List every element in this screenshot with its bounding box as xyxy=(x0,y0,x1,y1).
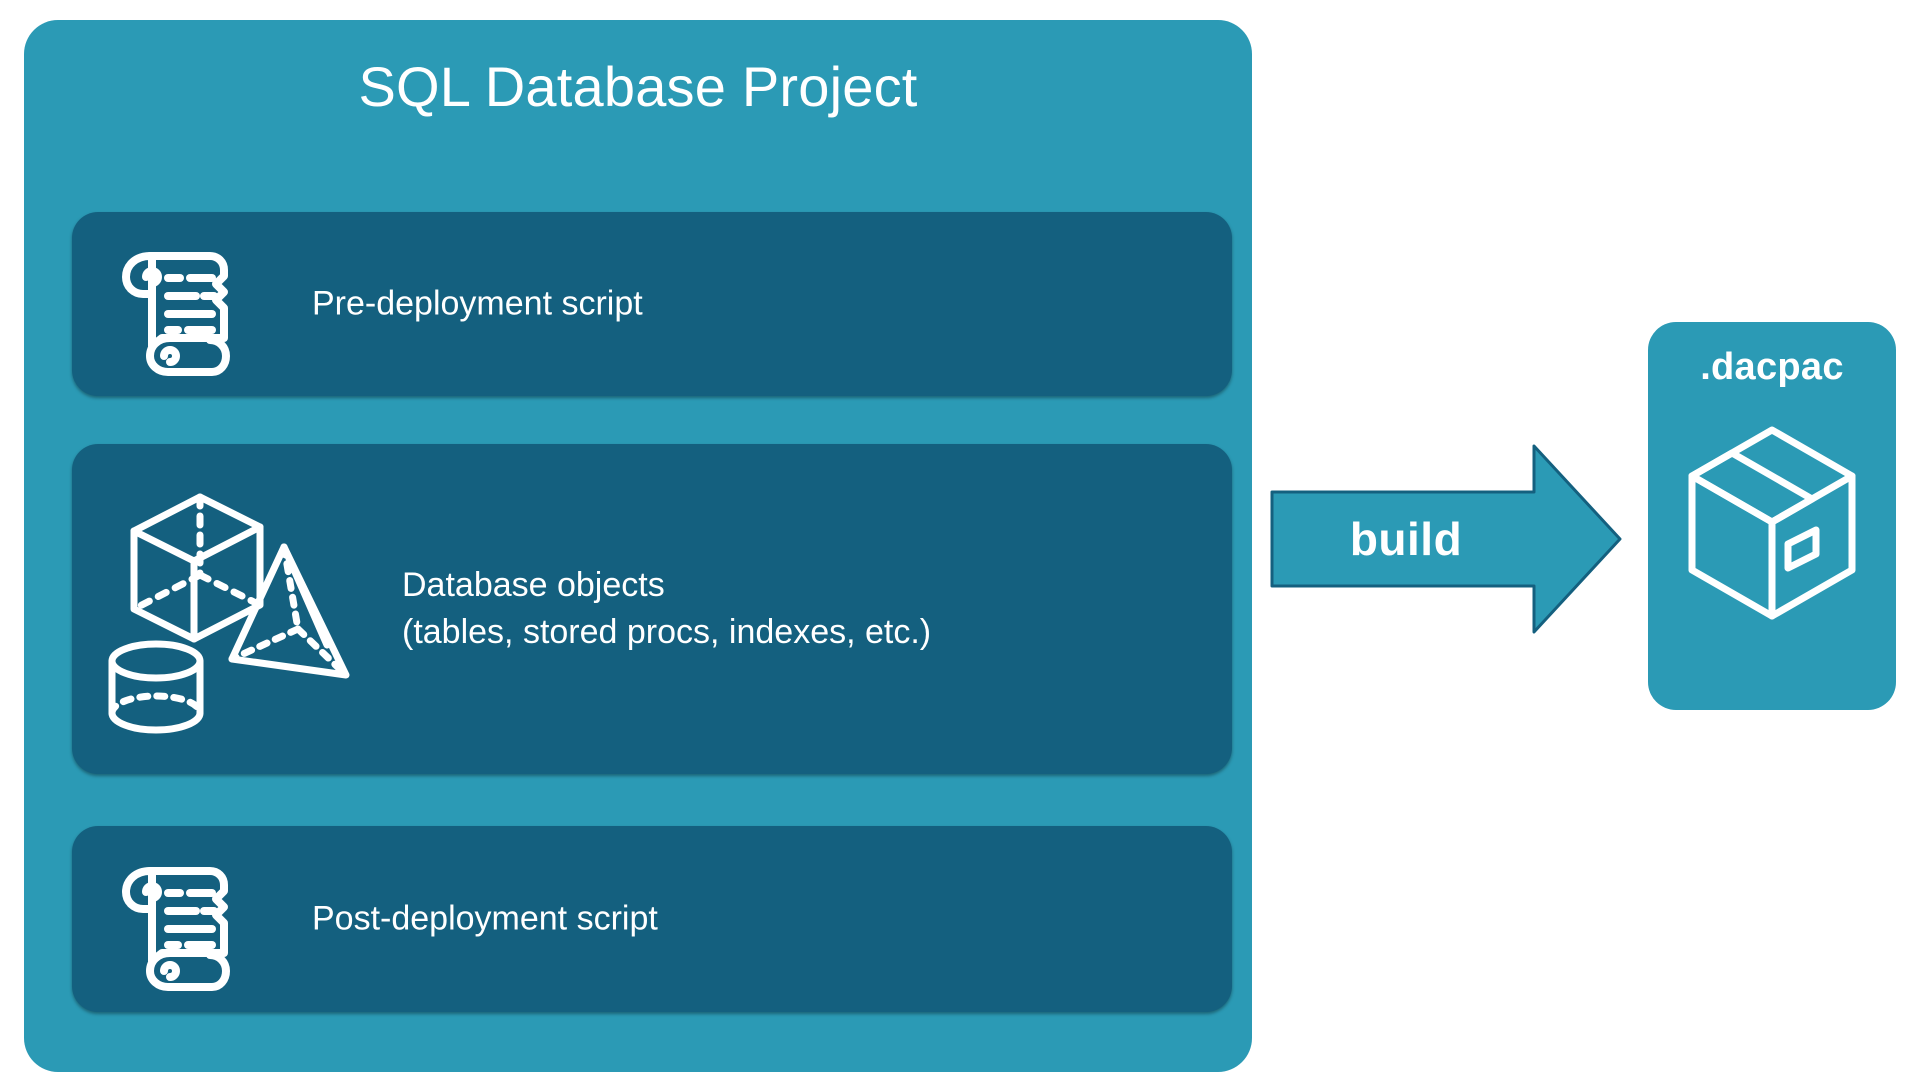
project-title: SQL Database Project xyxy=(24,56,1252,118)
sql-database-project-panel: SQL Database Project xyxy=(24,20,1252,1072)
card-post-deployment-label: Post-deployment script xyxy=(312,896,658,943)
card-database-objects[interactable]: Database objects (tables, stored procs, … xyxy=(72,444,1232,774)
scroll-icon xyxy=(106,234,246,374)
dacpac-title: .dacpac xyxy=(1648,346,1896,389)
card-database-objects-label: Database objects (tables, stored procs, … xyxy=(402,562,931,656)
scroll-icon xyxy=(106,849,246,989)
card-pre-deployment-script[interactable]: Pre-deployment script xyxy=(72,212,1232,396)
package-box-icon xyxy=(1684,414,1860,652)
shapes-icon xyxy=(98,479,388,739)
dacpac-output-panel[interactable]: .dacpac xyxy=(1648,322,1896,710)
build-arrow xyxy=(1272,446,1620,632)
card-pre-deployment-label: Pre-deployment script xyxy=(312,281,643,328)
diagram-canvas: SQL Database Project xyxy=(0,0,1920,1080)
card-post-deployment-script[interactable]: Post-deployment script xyxy=(72,826,1232,1012)
